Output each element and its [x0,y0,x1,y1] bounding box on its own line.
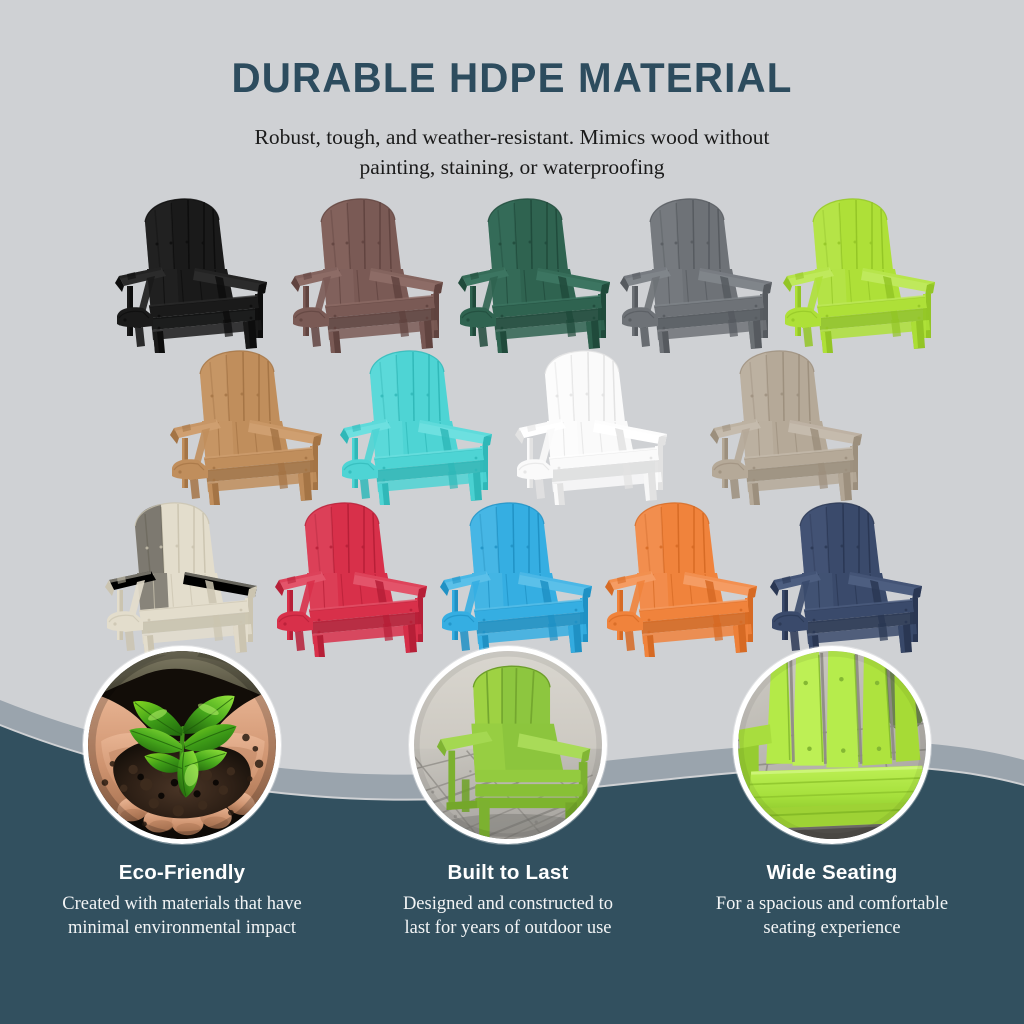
chair-back [321,199,401,270]
adirondack-chair-teak-icon [160,348,336,508]
feature-description: Created with materials that have minimal… [22,892,342,940]
chair-back [305,503,385,574]
feature-title: Built to Last [348,861,668,885]
chair-back [135,503,215,574]
chair-row-2 [0,348,1024,508]
chair-swatch-teak[interactable] [160,348,336,508]
chair-back [635,503,715,574]
feature-desc-line-2: minimal environmental impact [22,916,342,940]
chair-row-1 [0,196,1024,356]
chair-runner [342,459,378,479]
chair-back [813,199,893,270]
chair-runner [785,307,821,327]
lime-green-chair-on-patio-icon [414,651,602,839]
chair-back [200,351,280,422]
chair-runner [712,459,748,479]
feature-desc-line-2: last for years of outdoor use [348,916,668,940]
chair-swatch-lime-green[interactable] [773,196,949,356]
chair-back [650,199,730,270]
header: DURABLE HDPE MATERIAL Robust, tough, and… [0,0,1024,182]
adirondack-chair-black-icon [105,196,281,356]
feature-image-built-to-last [409,646,607,844]
chair-swatch-white[interactable] [505,348,681,508]
lime-green-chair-wide-seat-closeup-icon [738,651,926,839]
adirondack-chair-gray-icon [610,196,786,356]
page-title: DURABLE HDPE MATERIAL [20,54,1003,102]
chair-back [470,503,550,574]
chair-runner [517,459,553,479]
feature-title: Eco-Friendly [22,861,342,885]
chair-swatch-weathered-wood[interactable] [700,348,876,508]
chair-swatch-black[interactable] [105,196,281,356]
feature-eco-friendly: Eco-Friendly Created with materials that… [22,646,342,940]
adirondack-chair-lime-green-icon [773,196,949,356]
feature-wide-seating: Wide Seating For a spacious and comforta… [672,646,992,940]
feature-title: Wide Seating [672,861,992,885]
subtitle-line-1: Robust, tough, and weather-resistant. Mi… [0,122,1024,152]
feature-image-eco-friendly [83,646,281,844]
feature-desc-line-1: Created with materials that have [22,892,342,916]
chair-runner [460,307,496,327]
chair-swatch-dark-green[interactable] [448,196,624,356]
adirondack-chair-turquoise-icon [330,348,506,508]
chair-back [545,351,625,422]
chair-runner [172,459,208,479]
feature-desc-line-1: Designed and constructed to [348,892,668,916]
adirondack-chair-dark-green-icon [448,196,624,356]
feature-description: For a spacious and comfortable seating e… [672,892,992,940]
chair-back [740,351,820,422]
chair-runner [622,307,658,327]
hands-holding-soil-seedling-icon [88,651,276,839]
adirondack-chair-weathered-wood-icon [700,348,876,508]
adirondack-chair-white-icon [505,348,681,508]
feature-desc-line-1: For a spacious and comfortable [672,892,992,916]
chair-back [488,199,568,270]
chair-swatch-gray[interactable] [610,196,786,356]
infographic-page: DURABLE HDPE MATERIAL Robust, tough, and… [0,0,1024,1024]
feature-description: Designed and constructed to last for yea… [348,892,668,940]
feature-list: Eco-Friendly Created with materials that… [0,624,1024,1024]
chair-swatch-brown[interactable] [281,196,457,356]
page-subtitle: Robust, tough, and weather-resistant. Mi… [0,122,1024,182]
chair-runner [117,307,153,327]
feature-image-wide-seating [733,646,931,844]
chair-runner [293,307,329,327]
chair-back [145,199,225,270]
subtitle-line-2: painting, staining, or waterproofing [0,152,1024,182]
feature-built-to-last: Built to Last Designed and constructed t… [348,646,668,940]
adirondack-chair-brown-icon [281,196,457,356]
chair-swatch-turquoise[interactable] [330,348,506,508]
chair-back [800,503,880,574]
feature-desc-line-2: seating experience [672,916,992,940]
chair-back [370,351,450,422]
